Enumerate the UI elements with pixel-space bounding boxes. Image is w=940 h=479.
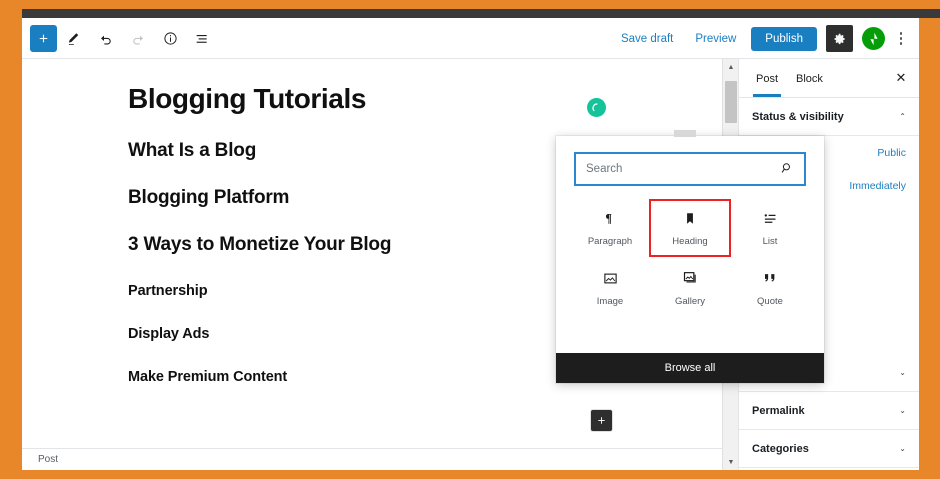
inline-add-block-button[interactable] xyxy=(591,410,612,431)
panel-status-and-visibility[interactable]: Status & visibility ⌃ xyxy=(739,98,919,136)
dot xyxy=(900,37,903,40)
block-label: Paragraph xyxy=(588,236,632,247)
tab-block[interactable]: Block xyxy=(787,61,832,96)
gear-icon xyxy=(833,32,847,46)
dot xyxy=(900,32,903,35)
info-icon[interactable] xyxy=(155,22,185,55)
block-label: Quote xyxy=(757,296,783,307)
kebab-menu-button[interactable] xyxy=(889,24,913,54)
block-label: List xyxy=(763,236,778,247)
plus-icon xyxy=(596,415,607,426)
list-icon xyxy=(762,209,779,227)
chevron-up-icon: ⌃ xyxy=(899,112,906,121)
save-draft-button[interactable]: Save draft xyxy=(610,33,684,45)
block-label: Image xyxy=(597,296,623,307)
window-chrome-strip xyxy=(22,9,940,18)
block-item-quote[interactable]: Quote xyxy=(730,260,810,316)
block-item-list[interactable]: List xyxy=(730,200,810,256)
chevron-down-icon: ⌄ xyxy=(899,444,906,453)
panel-title: Categories xyxy=(752,443,809,455)
panel-categories[interactable]: Categories ⌄ xyxy=(739,430,919,468)
edit-pencil-icon[interactable] xyxy=(59,22,89,55)
toolbar-left-group xyxy=(26,18,217,59)
grammarly-spinner-icon[interactable] xyxy=(587,98,606,117)
scroll-up-arrow-icon[interactable]: ▲ xyxy=(723,59,739,75)
breadcrumb-item-post[interactable]: Post xyxy=(38,454,58,465)
screenshot-frame: Save draft Preview Publish xyxy=(0,0,940,479)
editor-toolbar: Save draft Preview Publish xyxy=(22,18,919,59)
block-search-field[interactable] xyxy=(574,152,806,186)
heading-bookmark-icon xyxy=(683,209,697,227)
panel-permalink[interactable]: Permalink ⌄ xyxy=(739,392,919,430)
list-view-icon[interactable] xyxy=(187,22,217,55)
add-block-button[interactable] xyxy=(30,25,57,52)
panel-title: Status & visibility xyxy=(752,111,844,123)
paragraph-icon: ¶ xyxy=(603,209,617,227)
dot xyxy=(900,42,903,45)
scroll-down-arrow-icon[interactable]: ▼ xyxy=(723,454,739,470)
search-icon[interactable] xyxy=(780,161,794,178)
jetpack-button[interactable] xyxy=(862,27,885,50)
plus-icon xyxy=(37,32,50,45)
scrollbar-thumb[interactable] xyxy=(725,81,737,123)
jetpack-icon xyxy=(866,31,882,47)
tab-post[interactable]: Post xyxy=(747,61,787,96)
undo-icon[interactable] xyxy=(91,22,121,55)
block-item-heading[interactable]: Heading xyxy=(650,200,730,256)
breadcrumb: Post xyxy=(22,448,722,470)
popup-pointer xyxy=(674,130,696,137)
block-label: Heading xyxy=(672,236,707,247)
block-item-paragraph[interactable]: ¶ Paragraph xyxy=(570,200,650,256)
redo-icon[interactable] xyxy=(123,22,153,55)
chevron-down-icon: ⌄ xyxy=(899,368,906,377)
publish-button[interactable]: Publish xyxy=(751,27,817,51)
row-value[interactable]: Public xyxy=(877,147,906,159)
preview-button[interactable]: Preview xyxy=(684,33,747,45)
block-inserter-popup: ¶ Paragraph Heading xyxy=(556,136,824,383)
svg-text:¶: ¶ xyxy=(605,211,612,225)
toolbar-right-group: Save draft Preview Publish xyxy=(610,18,913,59)
quote-icon xyxy=(762,269,778,287)
row-value[interactable]: Immediately xyxy=(849,180,906,192)
close-icon[interactable]: ✕ xyxy=(893,70,909,86)
wordpress-block-editor: Save draft Preview Publish xyxy=(22,18,919,470)
block-label: Gallery xyxy=(675,296,705,307)
settings-gear-button[interactable] xyxy=(826,25,853,52)
image-icon xyxy=(602,269,619,287)
block-type-grid: ¶ Paragraph Heading xyxy=(570,200,810,316)
browse-all-button[interactable]: Browse all xyxy=(556,353,824,383)
block-item-gallery[interactable]: Gallery xyxy=(650,260,730,316)
sidebar-tabs: Post Block ✕ xyxy=(739,59,919,98)
gallery-icon xyxy=(682,269,699,287)
search-input[interactable] xyxy=(586,163,774,175)
panel-title: Permalink xyxy=(752,405,805,417)
block-item-image[interactable]: Image xyxy=(570,260,650,316)
chevron-down-icon: ⌄ xyxy=(899,406,906,415)
